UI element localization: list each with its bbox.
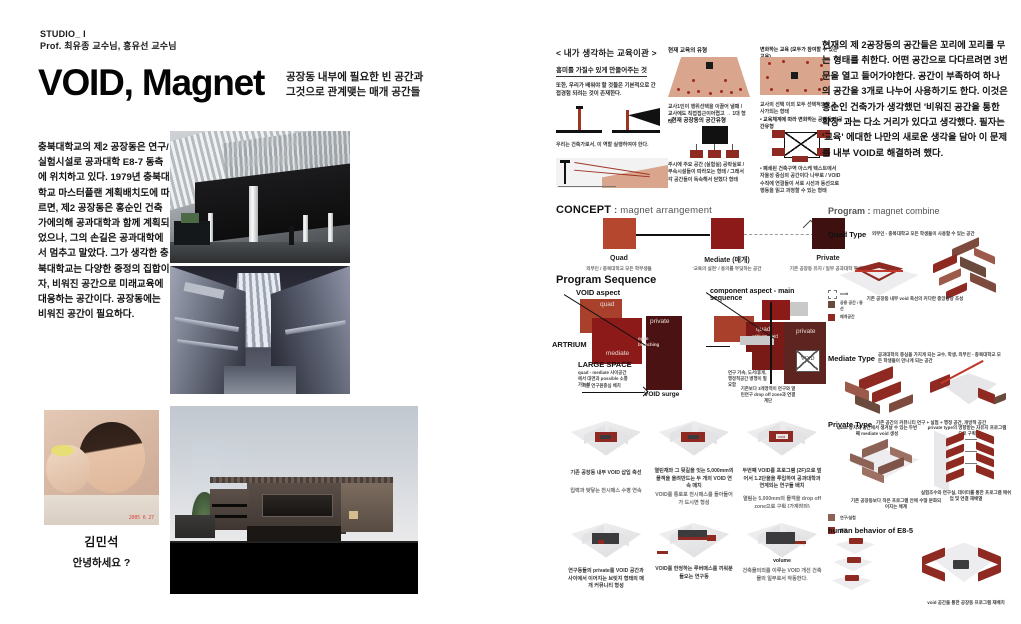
private-legend-swatch-1 [828,514,835,521]
seq-label-void-surge: VOID surge [644,391,679,398]
magnet-quad-label: Quad [574,255,664,262]
kid-name: 김민석 [44,533,159,550]
atrium-render [170,266,350,394]
human-behavior-caption: void 공간을 통한 공장동 프로그램 재배치 [920,600,1012,606]
page-title: VOID, Magnet [38,62,264,104]
studio-name: STUDIO_ I [40,28,177,40]
title-subtitle: 공장동 내부에 필요한 빈 공간과 그것으로 관계맺는 매개 공간들 [286,70,423,100]
iso-panel-2-caption: VOID를 통로로 전시매스를 돌아들어가 도시면 형성 [654,492,734,507]
seq-bottom-arrow [582,392,644,393]
education-diagram-caption: 우리는 건축가로서, 이 역할 실행하여야 한다. [556,142,664,149]
seq-label-artrium: ARTRIUM [552,340,587,349]
program-subtitle-text: magnet combine [873,206,940,216]
education-panel-hierarchy: 현재 교육의 유형 [668,46,750,106]
concept-title: CONCEPT : magnet arrangement [556,204,712,216]
void-aspect-heading: VOID aspect [576,288,620,297]
photo-date-stamp: 2005 6 27 [129,515,154,521]
family-photo: 2005 6 27 [44,410,159,525]
seq-label-large-space: LARGE SPACE [578,360,632,369]
seq-label-quad: quad [600,301,614,308]
program-title-text: Program [828,206,865,216]
education-panel-1-title: 현재 교육의 유형 [668,46,750,54]
magnet-mediate [711,218,744,249]
iso-panel-5-label: VOID를 한정하는 루버매스를 끼워분들오는 연구동 [654,566,734,581]
seq-r-label-private: private [796,328,816,335]
private-legend-label-1: 연구/실험 [840,515,856,521]
iso-panel-1-label: 기존 공장동 내부 VOID 삽입 축선 [566,470,646,478]
seq-r-vline [770,302,772,384]
iso-panel-2-label: 열린재와 그 뒷길을 잇는 5,000mm의 몰객을 올려만드는 두 개의 VO… [654,468,734,491]
education-subheading: 흥미를 가질수 있게 만들어주는 것 [556,64,647,77]
exterior-render [170,406,418,594]
subtitle-line-2: 그것으로 관계맺는 매개 공간들 [286,85,423,100]
iso-panel-5 [654,508,734,570]
studio-credits: STUDIO_ I Prof. 최유종 교수님, 홍유선 교수님 [40,28,177,52]
education-subpanel-1-caption: 주시에 주요 공간 (실험실) 공락실로 / 부속시설들이 따라오는 형태 / … [668,162,748,184]
presentation-board: STUDIO_ I Prof. 최유종 교수님, 홍유선 교수님 VOID, M… [0,0,1021,624]
kid-greeting: 안녕하세요 ? [44,555,159,570]
right-body-text: 현재의 제 2공장동의 공간들은 꼬리에 꼬리를 무는 형태를 취한다. 어떤 … [822,38,1008,161]
magnet-mediate-label: Mediate (매개) [682,255,772,265]
private-caption-right: 실험조수와 연구실, 데이터를 통한 프로그램 매쉬업 및 연결 재배열 [920,490,1012,503]
magnet-mediate-sub: '교육의 실현' / 용의를 부딪하는 공간 [682,266,772,273]
human-behavior-diagram [830,538,916,600]
kid-caption: 김민석 안녕하세요 ? [44,533,159,570]
interior-render [170,131,350,263]
seq-label-mediate: mediate [606,350,629,357]
private-type-diagram-right [932,430,1008,496]
quad-legend-swatch-circulation [828,301,835,308]
program-sequence-title: Program Sequence [556,274,656,286]
iso-panel-2 [654,406,734,468]
subtitle-line-1: 공장동 내부에 필요한 빈 공간과 [286,70,423,85]
concept-title-text: CONCEPT [556,204,611,216]
concept-subtitle-text: magnet arrangement [620,205,712,216]
quad-type-desc: 외부인 - 충북대학교 모든 학생들이 사용할 수 있는 공간 [872,231,998,237]
professor-names: Prof. 최유종 교수님, 홍유선 교수님 [40,40,177,52]
quad-type-title: Quad Type [828,230,866,239]
mediate-type-diagram-right [930,360,1008,420]
human-behavior-diagram-right [920,532,1008,598]
seq-label-private: private [650,318,670,325]
iso-panel-6-label: volume [742,558,822,566]
quad-legend-label-mediate: 매개공간 [840,314,855,320]
seq-r-note-2: 기존보다 3개영역이 연구와 열린연구 drop off zone과 연결 계단 [740,386,796,404]
private-type-desc: 기존 공간의 커뮤니티 연구 + 실험 + 행정 공간, 개방적 공간 [876,420,1004,426]
iso-panel-4-label: 연구동들의 private를 VOID 공간과 사이에서 이어지는 브릿지 형태… [566,568,646,591]
education-wave-diagram [556,158,668,188]
iso-panel-3-label: 두번째 VOID를 프로그램 (2F)으로 덮어서 1.2단을을 투입하여 공과… [742,468,822,491]
iso-panel-1 [566,406,646,468]
quad-type-caption: 기존 공장동 내부 void 축선의 커다란 중앙광장 조성 [860,296,970,302]
magnet-quad [603,218,636,249]
left-body-text: 충북대학교의 제2 공장동은 연구/실험시설로 공과대학 E8-7 동측에 위치… [38,140,170,322]
quad-legend-swatch-void [828,290,837,299]
education-subpanel-1-diagram [690,126,740,158]
program-sequence-left: VOID aspect quad mediate private ARTRIUM… [556,288,686,398]
iso-panel-6-caption: 건축물의외를 이루는 VOID 개선 건축물의 일부로서 작동한다. [742,568,822,583]
program-sequence-right: component aspect - main sequence private… [700,288,826,400]
education-subpanel-1-title: • 현재 공장동의 공간유형 [668,116,750,124]
education-note: 또한, 우리가 배워야 할 것들은 기본적으로 간접경험 되려는 것이 존재한다… [556,82,660,98]
quad-legend-label-void: void [840,291,848,297]
seq-note-existing: 기존 연구원중심 배치 [582,383,642,389]
iso-panel-3: void [742,406,822,468]
concept-link-dashed [744,234,814,235]
iso-panel-1-caption: 입력과 맞닿는 전시매스 수평 연속 [566,488,646,496]
education-subpanel-2-caption: • 폐쇄된 건축구역 아스케 텍스트에서 자율성 중심의 공간이다 나무로 / … [760,166,842,196]
seq-note-branch: open branching [638,336,670,348]
mediate-type-title: Mediate Type [828,354,875,363]
quad-legend-swatch-mediate [828,314,835,321]
seq-r-left-arrow [706,346,730,347]
quad-type-diagram-left [836,244,922,304]
concept-link-solid [636,234,710,236]
iso-panel-grid: 기존 공장동 내부 VOID 삽입 축선 입력과 맞닿는 전시매스 수평 연속 … [566,406,822,596]
private-type-diagram-left [840,434,926,492]
magnet-quad-sub: 외부인 / 충북대학교 모든 학부생들 [574,266,664,273]
education-heading: < 내가 생각하는 교육이관 > [556,47,657,59]
program-magnet-title: Program : magnet combine [828,205,940,217]
private-type-title: Private Type [828,420,872,429]
human-behavior-title: human behavior of E8-5 [828,526,913,535]
mediate-type-diagram-left [842,368,926,422]
iso-panel-4 [566,508,646,570]
education-pole-diagram [556,108,661,136]
